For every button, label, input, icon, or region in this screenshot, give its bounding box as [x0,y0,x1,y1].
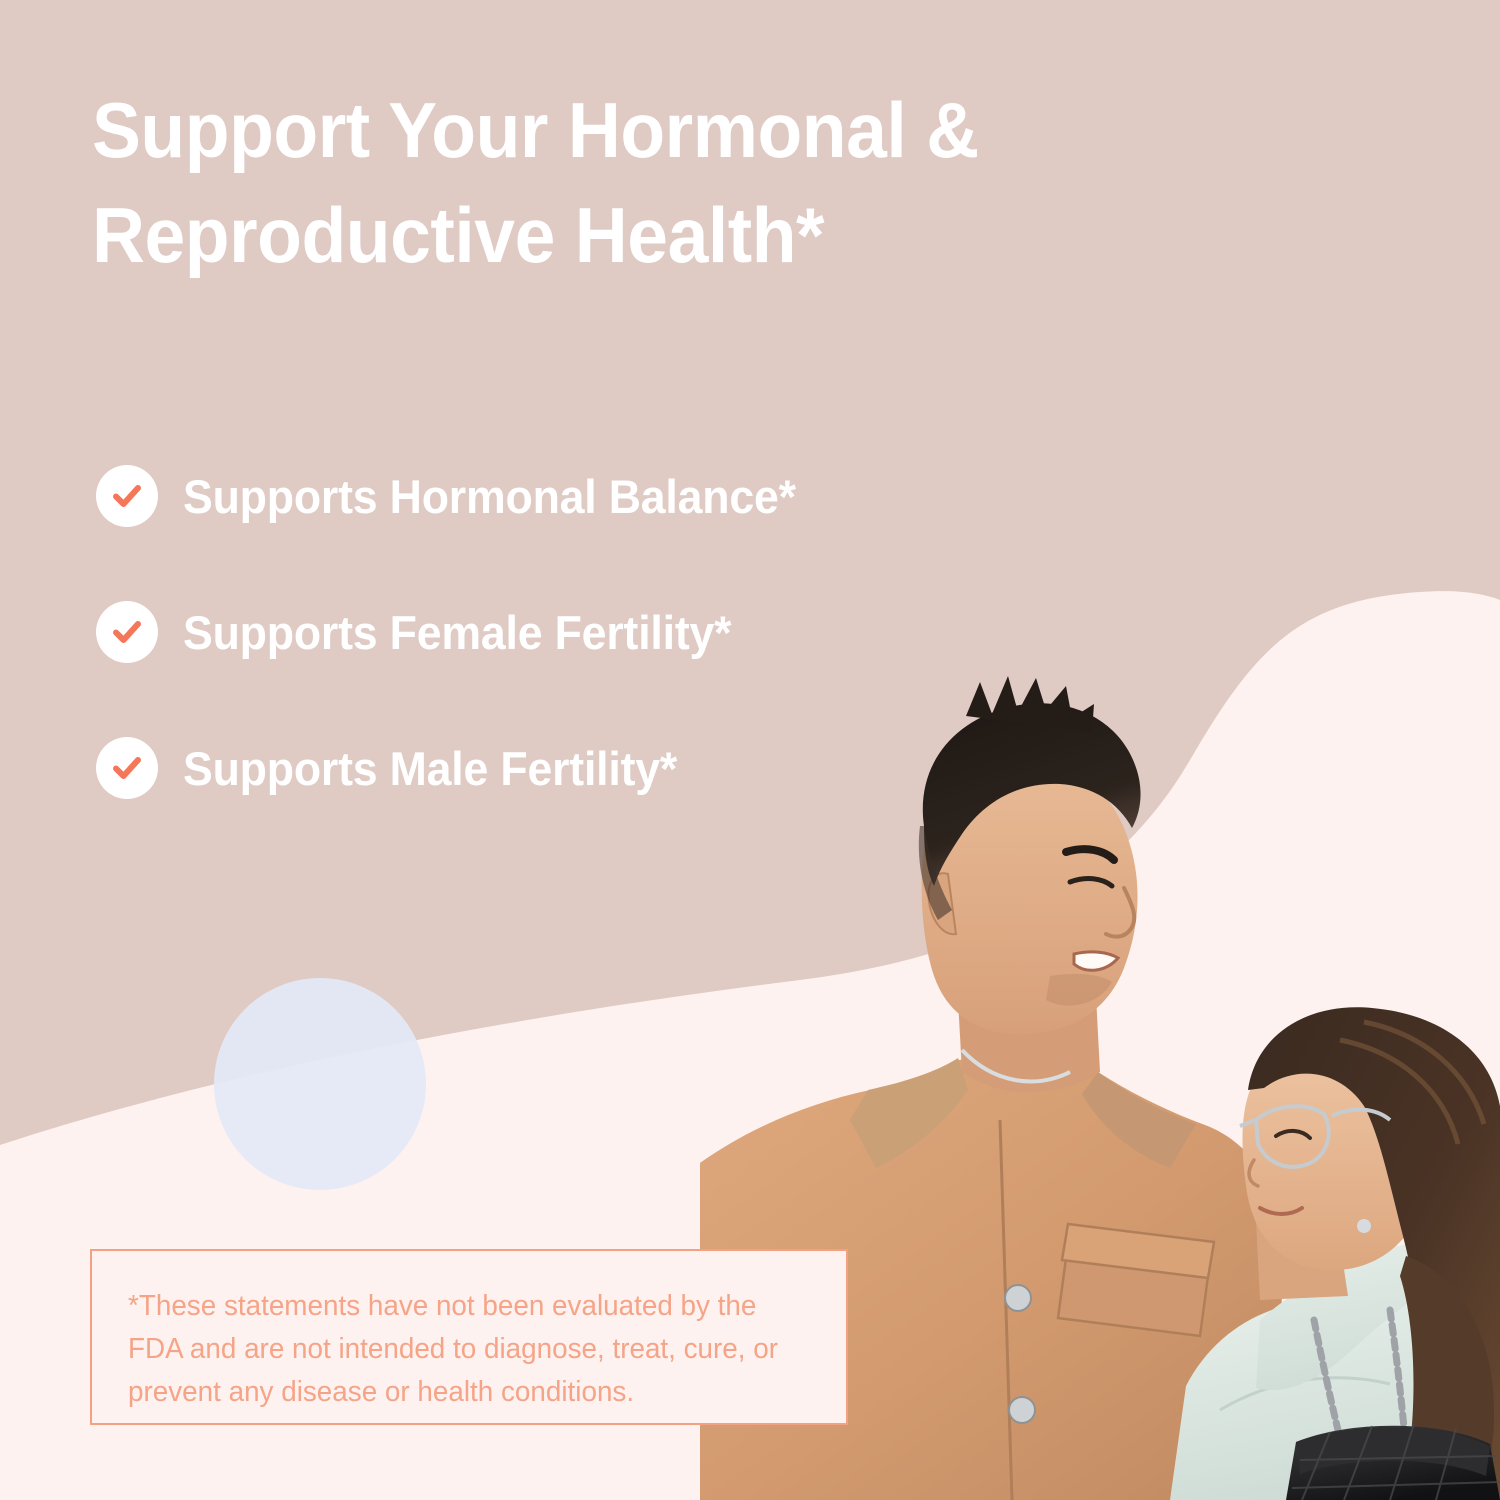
product-benefit-banner: Support Your Hormonal & Reproductive Hea… [0,0,1500,1500]
jacket-button-lower [1009,1397,1035,1423]
check-icon [96,601,158,663]
fda-disclaimer-text: *These statements have not been evaluate… [128,1285,783,1414]
womans-earring [1357,1219,1371,1233]
list-item: Supports Female Fertility* [96,564,1096,700]
list-item: Supports Male Fertility* [96,700,1096,836]
benefit-label: Supports Male Fertility* [183,745,677,792]
check-icon [96,737,158,799]
jacket-button-upper [1005,1285,1031,1311]
page-title: Support Your Hormonal & Reproductive Hea… [92,78,1107,287]
benefit-list: Supports Hormonal Balance* Supports Fema… [96,428,1096,836]
list-item: Supports Hormonal Balance* [96,428,1096,564]
benefit-label: Supports Hormonal Balance* [183,473,796,520]
check-icon [96,465,158,527]
benefit-label: Supports Female Fertility* [183,609,731,656]
lavender-circle-accent [214,978,426,1190]
fda-disclaimer-box: *These statements have not been evaluate… [90,1249,848,1425]
